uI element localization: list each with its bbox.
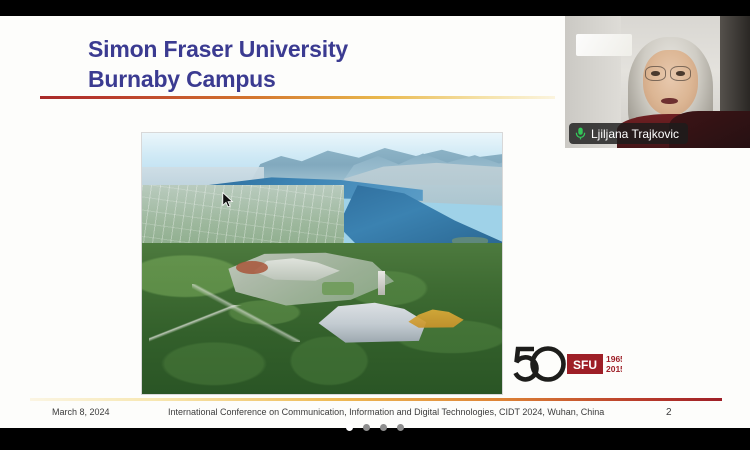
slide-dot-4[interactable] xyxy=(397,424,404,431)
logo-year-from: 1965 xyxy=(606,354,622,364)
slide-dot-2[interactable] xyxy=(363,424,370,431)
logo-year-to: 2015 xyxy=(606,364,622,374)
footer-page-number: 2 xyxy=(666,407,672,418)
participant-name-badge: Ljiljana Trajkovic xyxy=(569,123,688,144)
sfu-50th-anniversary-logo: SFU 1965 2015 xyxy=(512,340,622,388)
title-divider-rule xyxy=(40,96,555,99)
footer-divider-rule xyxy=(30,398,722,401)
mouse-cursor xyxy=(222,192,234,208)
campus-aerial-photo xyxy=(142,133,502,394)
slide-title: Simon Fraser University Burnaby Campus xyxy=(88,34,558,94)
campus-photo-frame xyxy=(142,133,502,394)
footer-date: March 8, 2024 xyxy=(52,407,110,417)
slide-dot-3[interactable] xyxy=(380,424,387,431)
footer-conference-name: International Conference on Communicatio… xyxy=(168,407,604,417)
participant-video-tile[interactable]: Ljiljana Trajkovic xyxy=(565,16,750,148)
microphone-icon[interactable] xyxy=(575,127,586,140)
participant-name: Ljiljana Trajkovic xyxy=(591,127,679,141)
slide-dot-1[interactable] xyxy=(346,424,353,431)
slide-title-line-2: Burnaby Campus xyxy=(88,64,558,94)
presentation-viewer: Simon Fraser University Burnaby Campus xyxy=(0,0,750,450)
logo-wordmark: SFU xyxy=(573,358,597,372)
slide-indicator-dots[interactable] xyxy=(0,421,750,433)
slide-title-line-1: Simon Fraser University xyxy=(88,34,558,64)
